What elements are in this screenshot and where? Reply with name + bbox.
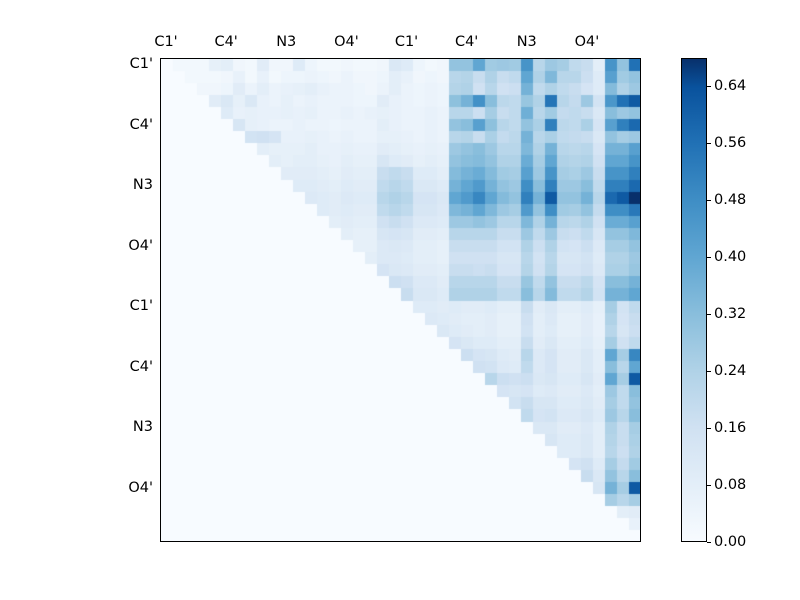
colorbar-tick-label: 0.40 <box>714 249 746 265</box>
colorbar-gradient <box>682 59 706 541</box>
colorbar-tick <box>707 371 711 372</box>
y-tick-label: O4' <box>128 238 153 254</box>
figure-canvas: C1'C4'N3O4'C1'C4'N3O4' C1'C4'N3O4'C1'C4'… <box>0 0 800 600</box>
heatmap-axes[interactable] <box>160 58 641 542</box>
x-tick-label: C1' <box>154 34 177 50</box>
x-tick-label: N3 <box>517 34 537 50</box>
y-tick-label: N3 <box>133 419 153 435</box>
colorbar-tick <box>707 257 711 258</box>
x-tick-label: N3 <box>276 34 296 50</box>
colorbar-tick-label: 0.64 <box>714 78 746 94</box>
x-tick-label: C4' <box>455 34 478 50</box>
colorbar-tick <box>707 314 711 315</box>
x-tick-label: O4' <box>575 34 600 50</box>
colorbar-tick <box>707 485 711 486</box>
x-tick-label: C4' <box>214 34 237 50</box>
colorbar-tick-label: 0.24 <box>714 363 746 379</box>
y-tick-label: O4' <box>128 480 153 496</box>
colorbar-tick <box>707 86 711 87</box>
colorbar-tick-label: 0.56 <box>714 135 746 151</box>
colorbar-tick <box>707 200 711 201</box>
x-tick-label: O4' <box>334 34 359 50</box>
y-tick-label: C1' <box>130 298 153 314</box>
x-tick-label: C1' <box>395 34 418 50</box>
y-tick-label: C1' <box>130 56 153 72</box>
colorbar-axes[interactable] <box>681 58 707 542</box>
heatmap-image[interactable] <box>161 59 641 542</box>
y-tick-label: C4' <box>130 117 153 133</box>
colorbar-tick-label: 0.32 <box>714 306 746 322</box>
colorbar-tick <box>707 542 711 543</box>
colorbar-tick-label: 0.48 <box>714 192 746 208</box>
colorbar-tick <box>707 143 711 144</box>
y-tick-label: C4' <box>130 359 153 375</box>
colorbar-tick-label: 0.16 <box>714 420 746 436</box>
y-tick-label: N3 <box>133 177 153 193</box>
colorbar-tick-label: 0.00 <box>714 534 746 550</box>
colorbar-tick <box>707 428 711 429</box>
colorbar-tick-label: 0.08 <box>714 477 746 493</box>
